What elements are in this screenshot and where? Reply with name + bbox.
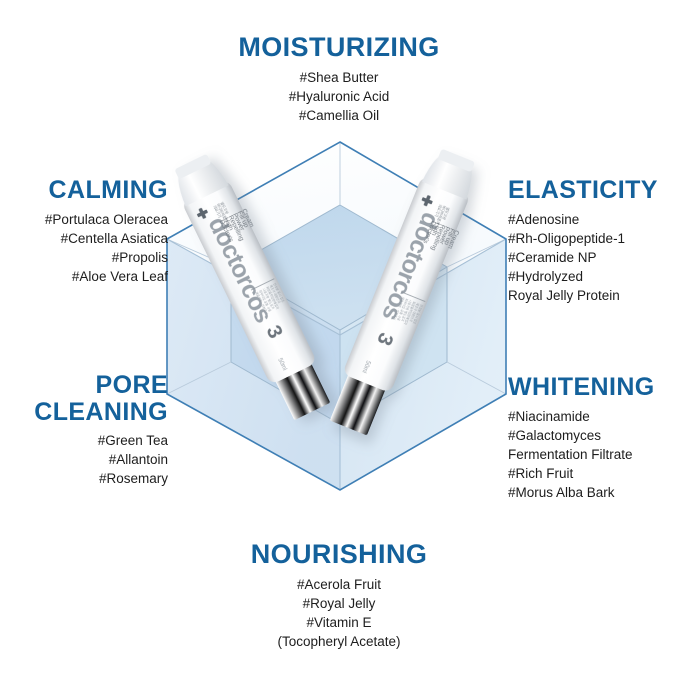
benefit-block-moisturizing: MOISTURIZING #Shea Butter #Hyaluronic Ac… (189, 33, 489, 125)
list-item: #Camellia Oil (189, 106, 489, 125)
list-item: #Portulaca Oleracea (8, 210, 168, 229)
list-item-continuation: Royal Jelly Protein (508, 286, 678, 305)
benefit-title-pore-cleaning: PORE CLEANING (0, 372, 168, 425)
list-item: #Propolis (8, 248, 168, 267)
benefit-block-nourishing: NOURISHING #Acerola Fruit #Royal Jelly #… (189, 540, 489, 651)
list-item: #Acerola Fruit (189, 575, 489, 594)
infographic-canvas: doctorcos 의료기기 바디바제품의 발모코랑 Doctor's High… (0, 0, 679, 679)
list-item: #Niacinamide (508, 407, 679, 426)
list-item: #Centella Asiatica (8, 229, 168, 248)
list-item: #Rosemary (0, 469, 168, 488)
benefit-title-moisturizing: MOISTURIZING (189, 33, 489, 62)
benefit-block-calming: CALMING #Portulaca Oleracea #Centella As… (8, 177, 168, 286)
benefit-block-elasticity: ELASTICITY #Adenosine #Rh-Oligopeptide-1… (508, 177, 678, 305)
list-item-continuation: Fermentation Filtrate (508, 445, 679, 464)
benefit-title-nourishing: NOURISHING (189, 540, 489, 569)
benefit-items-moisturizing: #Shea Butter #Hyaluronic Acid #Camellia … (189, 68, 489, 125)
list-item: #Green Tea (0, 431, 168, 450)
benefit-items-elasticity: #Adenosine #Rh-Oligopeptide-1 #Ceramide … (508, 210, 678, 306)
list-item: #Allantoin (0, 450, 168, 469)
list-item: #Ceramide NP (508, 248, 678, 267)
list-item: #Vitamin E (189, 613, 489, 632)
list-item: #Rh-Oligopeptide-1 (508, 229, 678, 248)
list-item: #Shea Butter (189, 68, 489, 87)
benefit-block-whitening: WHITENING #Niacinamide #Galactomyces Fer… (508, 374, 679, 502)
list-item: #Hydrolyzed (508, 267, 678, 286)
benefit-items-nourishing: #Acerola Fruit #Royal Jelly #Vitamin E (… (189, 575, 489, 652)
benefit-items-whitening: #Niacinamide #Galactomyces Fermentation … (508, 407, 679, 503)
list-item: #Morus Alba Bark (508, 483, 679, 502)
list-item: #Royal Jelly (189, 594, 489, 613)
list-item: #Aloe Vera Leaf (8, 267, 168, 286)
benefit-title-whitening: WHITENING (508, 374, 679, 401)
benefit-items-calming: #Portulaca Oleracea #Centella Asiatica #… (8, 210, 168, 287)
benefit-title-elasticity: ELASTICITY (508, 177, 678, 204)
benefit-title-calming: CALMING (8, 177, 168, 204)
benefit-items-pore-cleaning: #Green Tea #Allantoin #Rosemary (0, 431, 168, 488)
list-item: #Rich Fruit (508, 464, 679, 483)
benefit-block-pore-cleaning: PORE CLEANING #Green Tea #Allantoin #Ros… (0, 372, 168, 488)
list-item: #Adenosine (508, 210, 678, 229)
list-item: (Tocopheryl Acetate) (189, 632, 489, 651)
list-item: #Hyaluronic Acid (189, 87, 489, 106)
list-item: #Galactomyces (508, 426, 679, 445)
